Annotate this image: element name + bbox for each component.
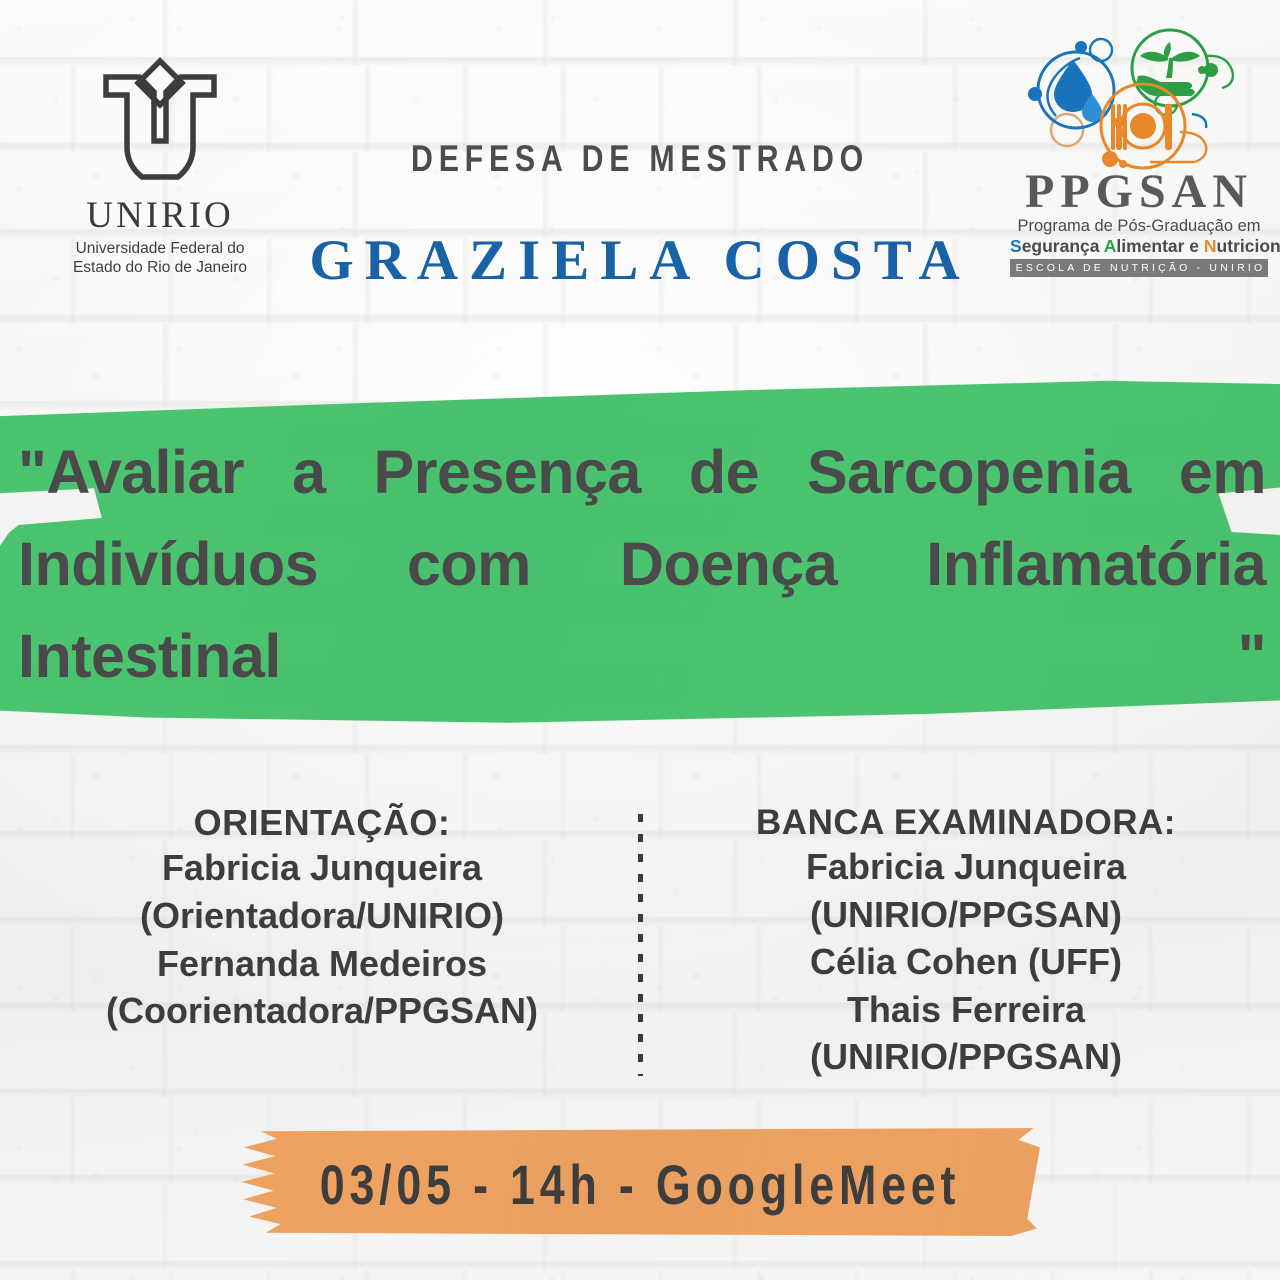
advising-person: Fabricia Junqueira — [22, 844, 622, 892]
defense-announcement-poster: UNIRIO Universidade Federal do Estado do… — [0, 0, 1280, 1280]
committee-member: (UNIRIO/PPGSAN) — [672, 1033, 1260, 1081]
dotted-column-divider — [638, 814, 643, 1076]
advising-heading: ORIENTAÇÃO: — [22, 802, 622, 844]
credits-section: ORIENTAÇÃO: Fabricia Junqueira (Orientad… — [0, 802, 1280, 1102]
advising-person: (Coorientadora/PPGSAN) — [22, 987, 622, 1035]
committee-heading: BANCA EXAMINADORA: — [672, 802, 1260, 843]
event-kicker: DEFESA DE MESTRADO — [115, 138, 1165, 180]
schedule-text: 03/05 - 14h - GoogleMeet — [128, 1152, 1152, 1217]
committee-member: Fabricia Junqueira — [672, 843, 1260, 891]
advising-column: ORIENTAÇÃO: Fabricia Junqueira (Orientad… — [22, 802, 622, 1035]
committee-column: BANCA EXAMINADORA: Fabricia Junqueira (U… — [672, 802, 1260, 1081]
committee-member: Célia Cohen (UFF) — [672, 938, 1260, 986]
committee-member: (UNIRIO/PPGSAN) — [672, 891, 1260, 939]
advising-person: Fernanda Medeiros — [22, 940, 622, 988]
thesis-title: "Avaliar a Presença de Sarcopenia em Ind… — [18, 426, 1266, 794]
committee-member: Thais Ferreira — [672, 986, 1260, 1034]
advising-person: (Orientadora/UNIRIO) — [22, 892, 622, 940]
speaker-name: GRAZIELA COSTA — [0, 228, 1280, 293]
